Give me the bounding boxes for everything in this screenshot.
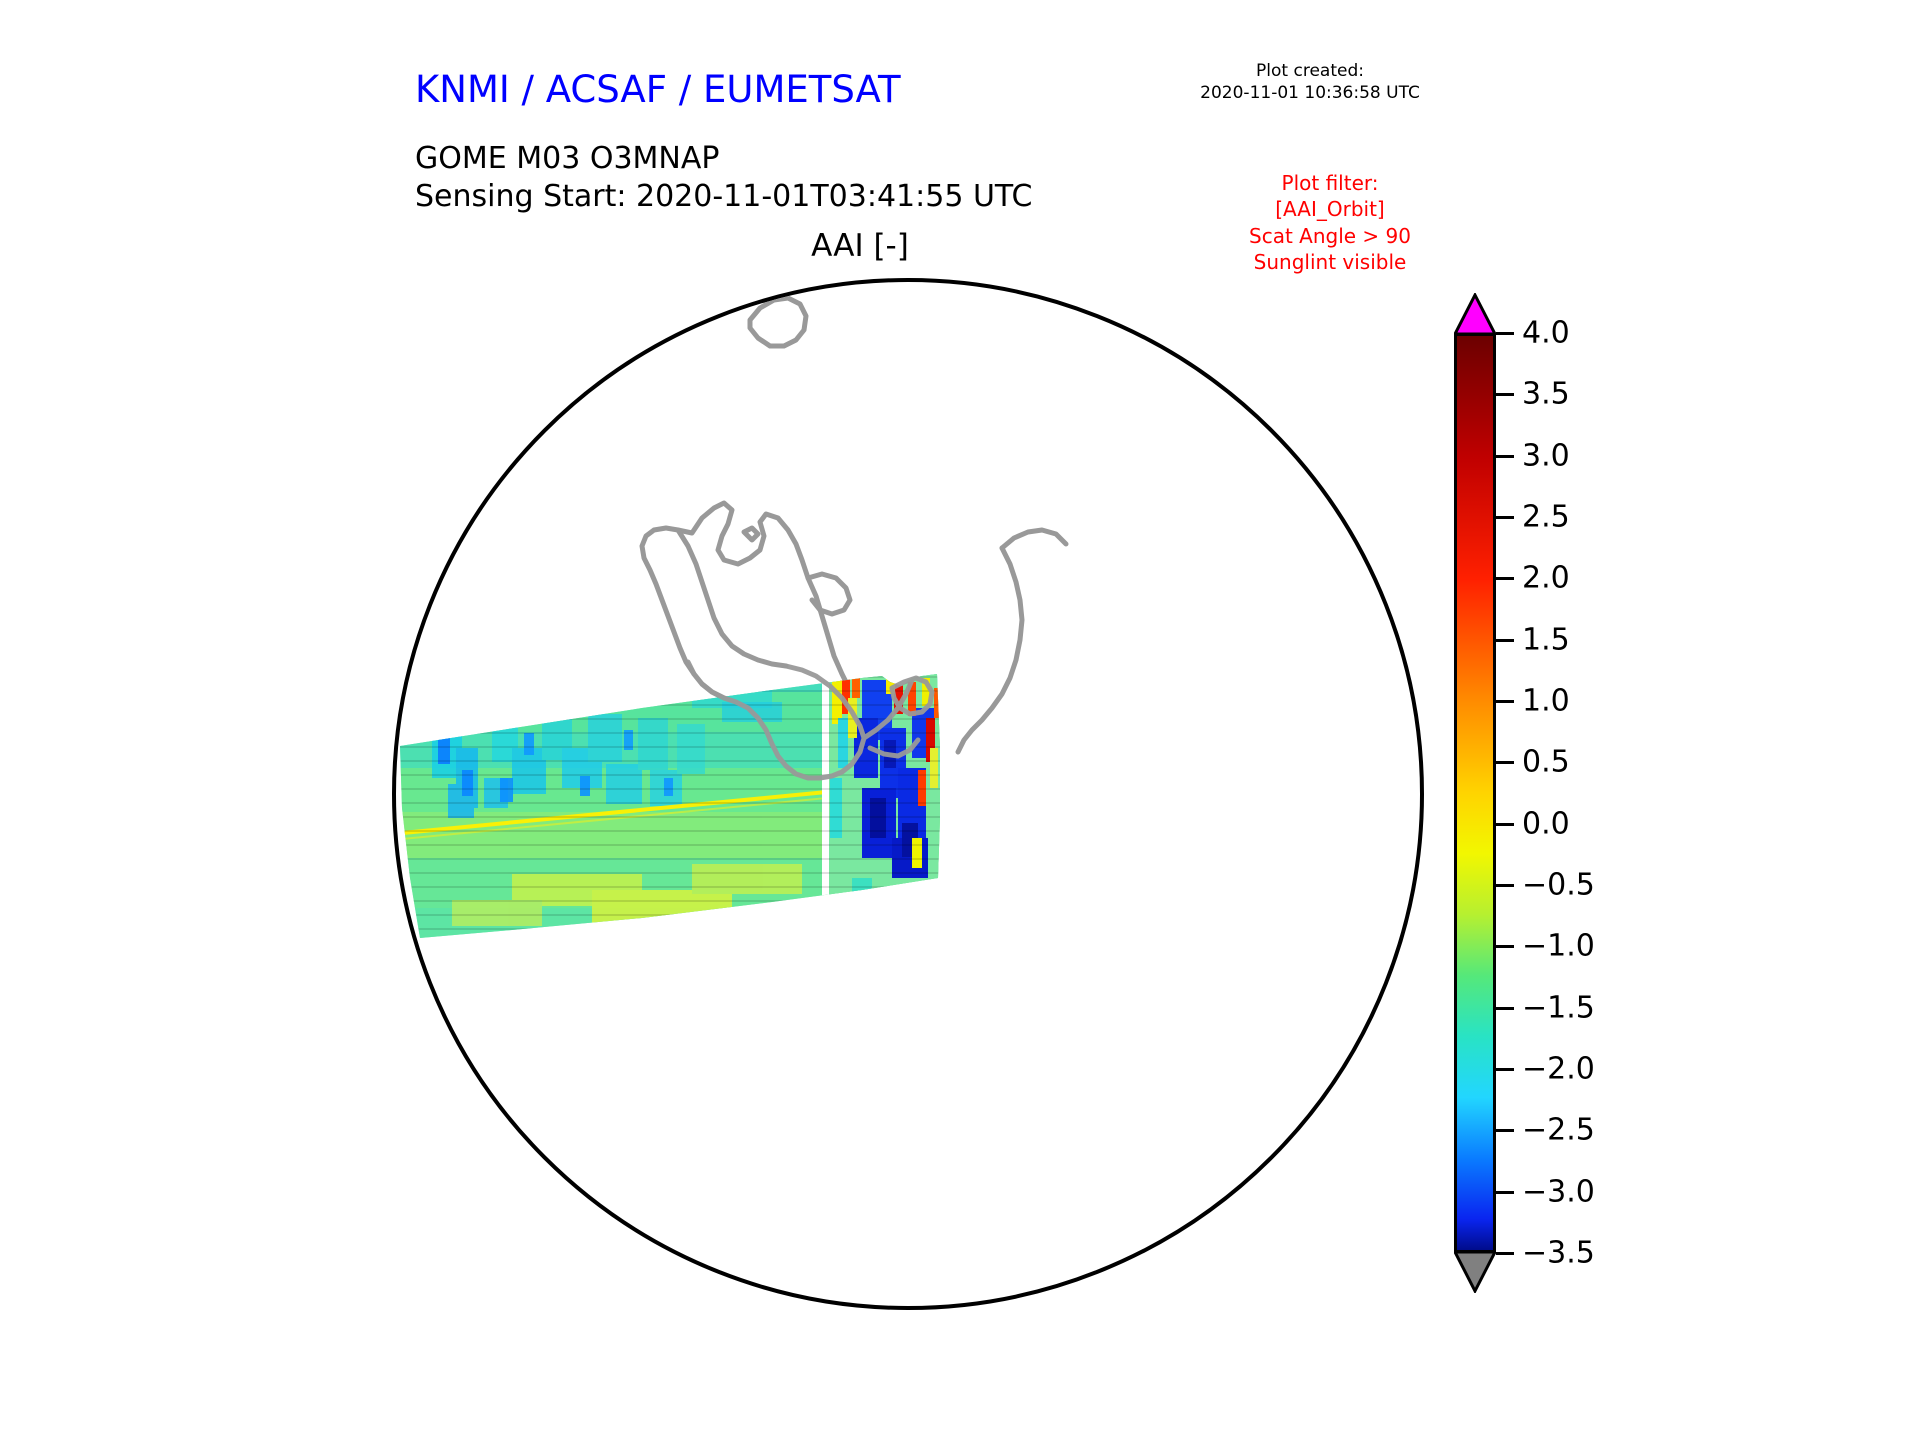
plot-created-label: Plot created: bbox=[1165, 60, 1455, 82]
filter-line-4: Sunglint visible bbox=[1215, 249, 1445, 275]
colorbar-tick-label: 1.5 bbox=[1522, 622, 1570, 657]
colorbar-tick-label: 2.0 bbox=[1522, 561, 1570, 596]
colorbar: 4.03.53.02.52.01.51.00.50.0−0.5−1.0−1.5−… bbox=[1440, 285, 1640, 1320]
colorbar-tick bbox=[1496, 455, 1514, 458]
colorbar-tick-label: −2.5 bbox=[1522, 1113, 1595, 1148]
colorbar-tick bbox=[1496, 1068, 1514, 1071]
data-swath bbox=[392, 658, 972, 958]
colorbar-tick-label: 3.5 bbox=[1522, 377, 1570, 412]
colorbar-tick bbox=[1496, 700, 1514, 703]
colorbar-tick bbox=[1496, 761, 1514, 764]
colorbar-tick bbox=[1496, 823, 1514, 826]
colorbar-tick-label: 0.0 bbox=[1522, 806, 1570, 841]
colorbar-tick-label: 4.0 bbox=[1522, 316, 1570, 351]
colorbar-gradient bbox=[1454, 333, 1496, 1253]
colorbar-tick bbox=[1496, 332, 1514, 335]
filter-line-3: Scat Angle > 90 bbox=[1215, 223, 1445, 249]
colorbar-tick-label: 1.0 bbox=[1522, 684, 1570, 719]
colorbar-over-arrow bbox=[1454, 293, 1496, 335]
colorbar-tick-label: −1.0 bbox=[1522, 929, 1595, 964]
filter-line-1: Plot filter: bbox=[1215, 170, 1445, 196]
orthographic-map bbox=[392, 278, 1424, 1310]
product-title: GOME M03 O3MNAP Sensing Start: 2020-11-0… bbox=[415, 140, 1032, 217]
plot-filter-block: Plot filter: [AAI_Orbit] Scat Angle > 90… bbox=[1215, 170, 1445, 276]
variable-title: AAI [-] bbox=[600, 228, 1120, 264]
instrument-line: GOME M03 O3MNAP bbox=[415, 140, 1032, 178]
colorbar-tick-label: −3.5 bbox=[1522, 1236, 1595, 1271]
colorbar-tick bbox=[1496, 1252, 1514, 1255]
colorbar-tick bbox=[1496, 393, 1514, 396]
colorbar-tick-label: −2.0 bbox=[1522, 1052, 1595, 1087]
colorbar-tick-label: 0.5 bbox=[1522, 745, 1570, 780]
colorbar-tick bbox=[1496, 884, 1514, 887]
colorbar-tick bbox=[1496, 577, 1514, 580]
colorbar-tick-label: −0.5 bbox=[1522, 868, 1595, 903]
organisation-title: KNMI / ACSAF / EUMETSAT bbox=[415, 68, 901, 111]
colorbar-tick bbox=[1496, 1007, 1514, 1010]
map-layers bbox=[392, 278, 1424, 1310]
colorbar-tick-label: 3.0 bbox=[1522, 438, 1570, 473]
colorbar-tick bbox=[1496, 945, 1514, 948]
plot-created-timestamp: 2020-11-01 10:36:58 UTC bbox=[1165, 82, 1455, 104]
plot-created-block: Plot created: 2020-11-01 10:36:58 UTC bbox=[1165, 60, 1455, 104]
colorbar-tick bbox=[1496, 639, 1514, 642]
colorbar-under-arrow bbox=[1454, 1251, 1496, 1293]
colorbar-tick-label: −3.0 bbox=[1522, 1174, 1595, 1209]
colorbar-tick bbox=[1496, 1129, 1514, 1132]
colorbar-tick-label: −1.5 bbox=[1522, 990, 1595, 1025]
colorbar-tick bbox=[1496, 1191, 1514, 1194]
colorbar-tick-label: 2.5 bbox=[1522, 500, 1570, 535]
colorbar-tick bbox=[1496, 516, 1514, 519]
filter-line-2: [AAI_Orbit] bbox=[1215, 196, 1445, 222]
sensing-start-line: Sensing Start: 2020-11-01T03:41:55 UTC bbox=[415, 178, 1032, 216]
